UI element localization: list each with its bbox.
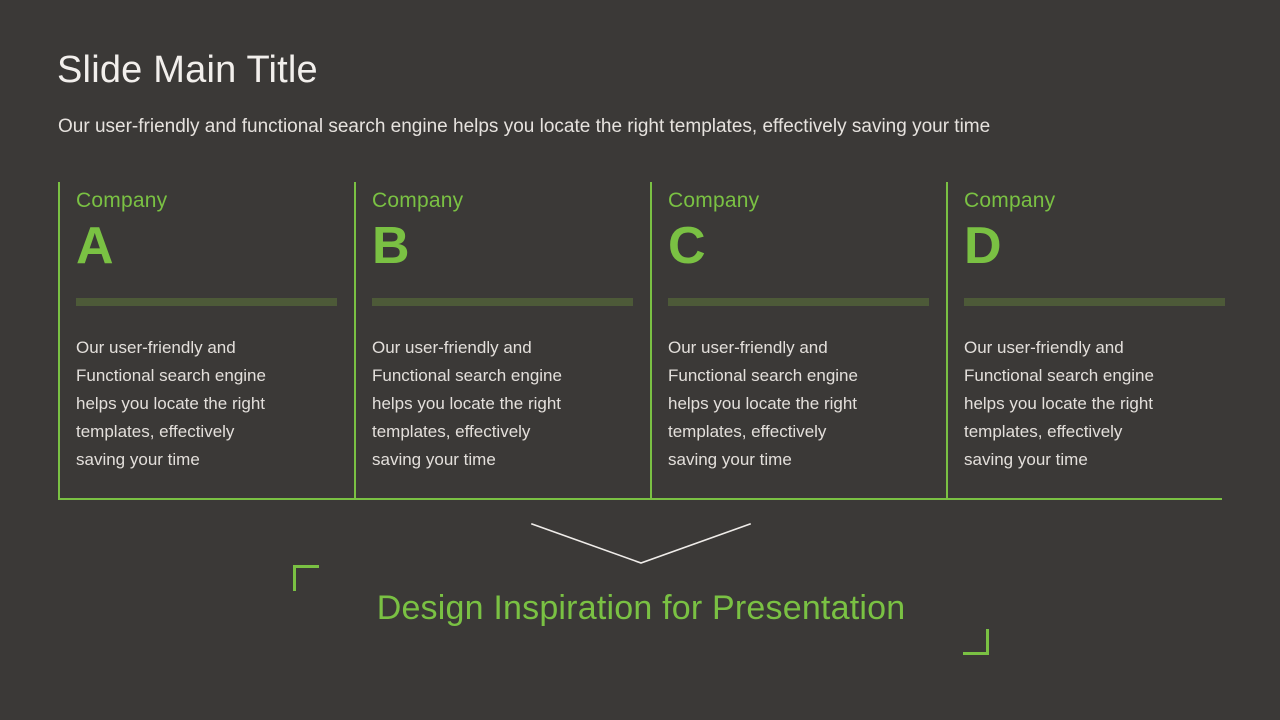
card-company-label: Company <box>964 188 1222 214</box>
card-divider-bar <box>76 298 337 306</box>
card-divider-bar <box>372 298 633 306</box>
page-subtitle: Our user-friendly and functional search … <box>58 114 990 141</box>
card-letter: C <box>668 220 946 272</box>
footer-headline-block: Design Inspiration for Presentation <box>293 565 989 655</box>
page-title: Slide Main Title <box>57 48 318 93</box>
card-company-label: Company <box>372 188 650 214</box>
card-body-text: Our user-friendly and Functional search … <box>372 334 622 474</box>
chevron-down-icon <box>530 518 752 568</box>
company-card-a[interactable]: Company A Our user-friendly and Function… <box>58 182 354 500</box>
slide-canvas: Slide Main Title Our user-friendly and f… <box>0 0 1280 720</box>
footer-headline: Design Inspiration for Presentation <box>293 587 989 630</box>
card-letter: A <box>76 220 354 272</box>
company-card-list: Company A Our user-friendly and Function… <box>58 182 1222 500</box>
corner-bracket-bottom-right-icon <box>963 629 989 655</box>
card-company-label: Company <box>668 188 946 214</box>
card-body-text: Our user-friendly and Functional search … <box>668 334 918 474</box>
company-card-d[interactable]: Company D Our user-friendly and Function… <box>946 182 1222 500</box>
card-body-text: Our user-friendly and Functional search … <box>964 334 1214 474</box>
card-letter: B <box>372 220 650 272</box>
card-body-text: Our user-friendly and Functional search … <box>76 334 326 474</box>
company-card-b[interactable]: Company B Our user-friendly and Function… <box>354 182 650 500</box>
card-divider-bar <box>964 298 1225 306</box>
card-divider-bar <box>668 298 929 306</box>
company-card-c[interactable]: Company C Our user-friendly and Function… <box>650 182 946 500</box>
card-company-label: Company <box>76 188 354 214</box>
card-letter: D <box>964 220 1222 272</box>
